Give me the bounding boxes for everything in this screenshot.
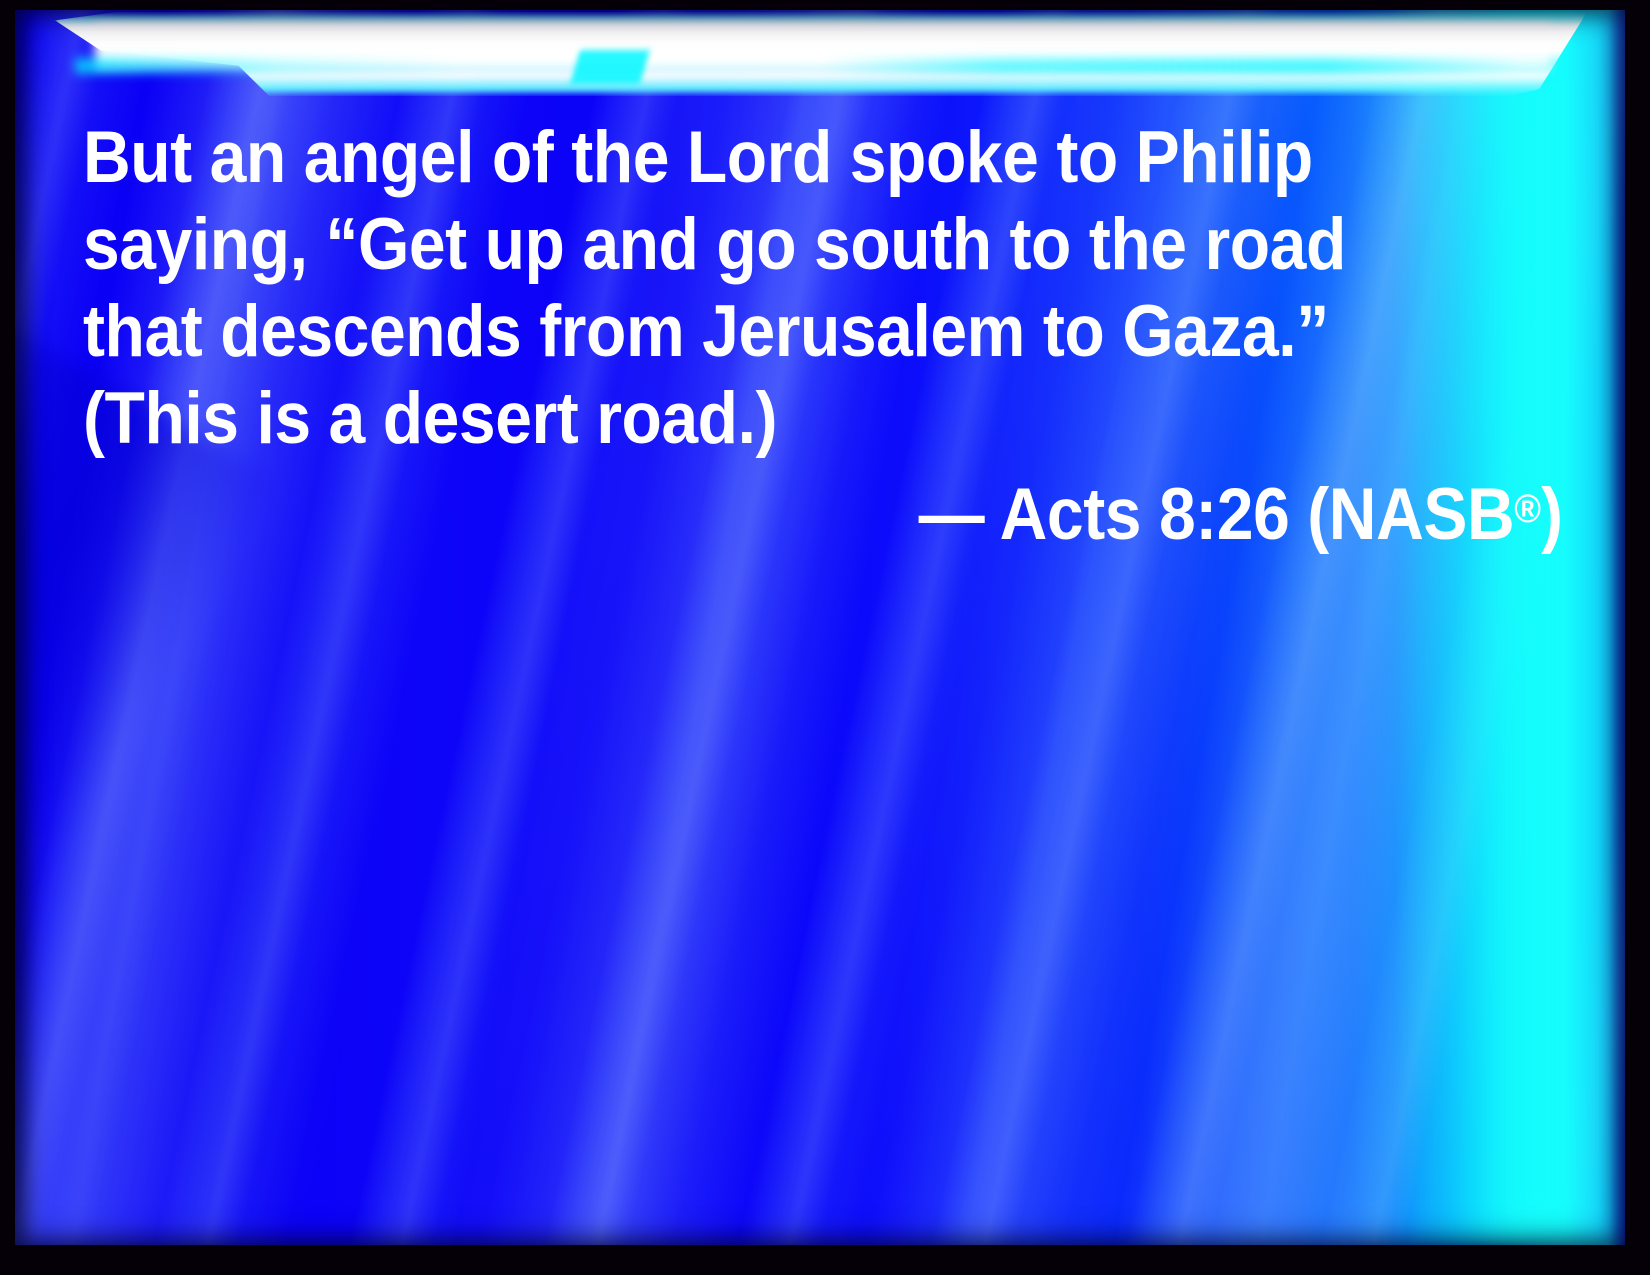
verse-text-block: But an angel of the Lord spoke to Philip… — [83, 114, 1553, 462]
verse-slide: But an angel of the Lord spoke to Philip… — [0, 0, 1650, 1275]
verse-citation-inner: — Acts 8:26 (NASB®) — [919, 465, 1563, 558]
top-glow-bar-notch — [570, 50, 650, 84]
registered-trademark-icon: ® — [1515, 486, 1542, 531]
verse-line-4: (This is a desert road.) — [83, 375, 1413, 462]
slide-canvas: But an angel of the Lord spoke to Philip… — [15, 10, 1625, 1245]
verse-line-1: But an angel of the Lord spoke to Philip — [83, 114, 1413, 201]
citation-suffix: ) — [1541, 474, 1563, 555]
verse-line-3: that descends from Jerusalem to Gaza.” — [83, 288, 1413, 375]
verse-line-2: saying, “Get up and go south to the road — [83, 201, 1413, 288]
top-glow-bar-tint — [75, 58, 1565, 74]
verse-citation: — Acts 8:26 (NASB®) — [83, 465, 1563, 558]
citation-prefix: — Acts 8:26 (NASB — [919, 474, 1515, 555]
